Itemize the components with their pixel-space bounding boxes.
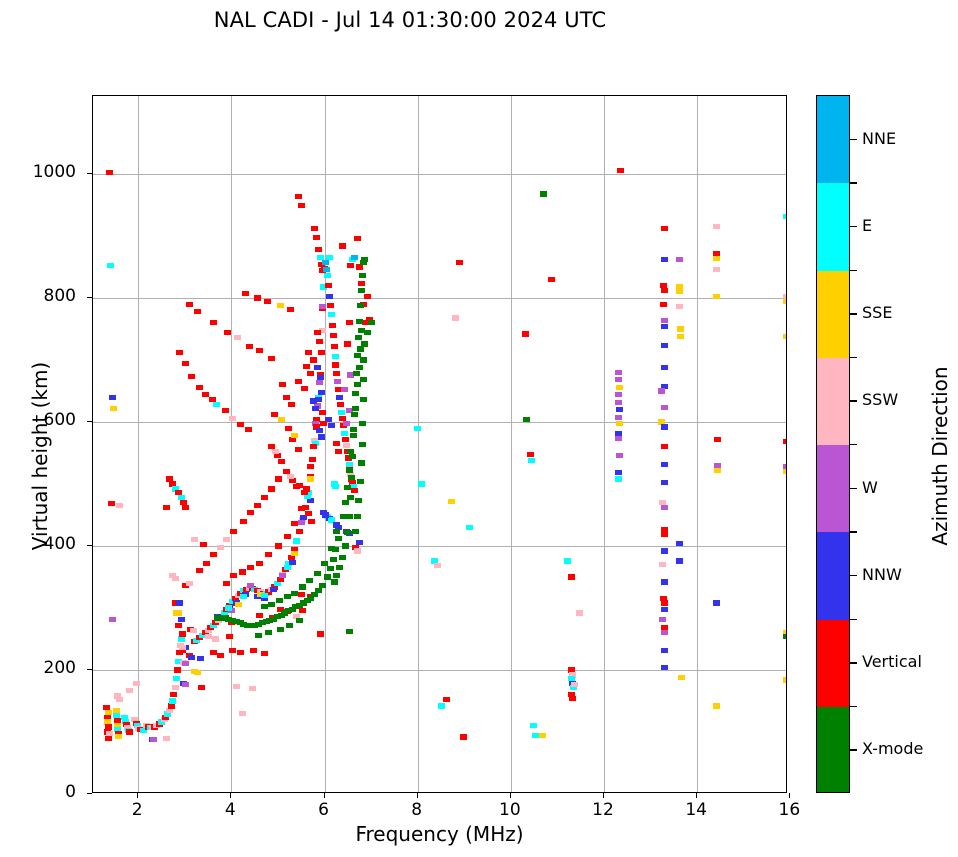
echo-point — [225, 605, 232, 610]
echo-point — [166, 476, 173, 481]
echo-point — [783, 439, 787, 444]
echo-point — [176, 600, 183, 605]
echo-point — [172, 576, 179, 581]
echo-point — [190, 628, 197, 633]
echo-point — [659, 562, 666, 567]
echo-point — [713, 256, 720, 261]
echo-point — [571, 682, 578, 687]
echo-point — [320, 421, 327, 426]
echo-point — [336, 565, 343, 570]
echo-point — [676, 304, 683, 309]
echo-point — [318, 434, 325, 439]
echo-point — [358, 281, 365, 286]
echo-point — [268, 602, 275, 607]
echo-point — [301, 490, 308, 495]
echo-point — [200, 542, 207, 547]
echo-point — [331, 344, 338, 349]
y-axis-tick — [87, 669, 92, 670]
echo-point — [223, 537, 230, 542]
echo-point — [226, 634, 233, 639]
echo-point — [108, 501, 115, 506]
echo-point — [205, 634, 212, 639]
echo-point — [256, 561, 263, 566]
echo-point — [661, 480, 668, 485]
echo-point — [615, 476, 622, 481]
x-axis-tick-label: 10 — [480, 800, 540, 820]
echo-point — [661, 444, 668, 449]
echo-point — [676, 257, 683, 262]
echo-point — [116, 503, 123, 508]
echo-point — [660, 302, 667, 307]
echo-point — [356, 365, 363, 370]
echo-point — [278, 459, 285, 464]
echo-point — [284, 534, 291, 539]
echo-point — [661, 324, 668, 329]
echo-point — [714, 437, 721, 442]
echo-point — [293, 484, 300, 489]
echo-point — [178, 636, 185, 641]
echo-point — [661, 607, 668, 612]
echo-point — [150, 737, 157, 742]
echo-point — [661, 226, 668, 231]
echo-point — [315, 247, 322, 252]
echo-point — [247, 583, 254, 588]
colorbar-tick — [850, 400, 857, 401]
echo-point — [230, 573, 237, 578]
echo-point — [616, 453, 623, 458]
echo-point — [234, 335, 241, 340]
echo-point — [350, 427, 357, 432]
echo-point — [661, 648, 668, 653]
colorbar-ticks — [850, 95, 862, 793]
y-axis-tick — [87, 545, 92, 546]
echo-point — [322, 512, 329, 517]
echo-point — [466, 525, 473, 530]
echo-point — [240, 594, 247, 599]
echo-point — [783, 214, 787, 219]
colorbar-segment[interactable] — [817, 271, 849, 359]
echo-point — [284, 565, 291, 570]
echo-point — [116, 697, 123, 702]
echo-point — [261, 495, 268, 500]
echo-point — [318, 390, 325, 395]
colorbar-label-x-mode: X-mode — [862, 739, 923, 758]
echo-point — [448, 499, 455, 504]
echo-point — [298, 203, 305, 208]
echo-point — [339, 555, 346, 560]
echo-point — [301, 386, 308, 391]
echo-point — [661, 257, 668, 262]
echo-point — [277, 303, 284, 308]
echo-point — [305, 350, 312, 355]
echo-point — [310, 444, 317, 449]
echo-point — [314, 365, 321, 370]
echo-point — [284, 594, 291, 599]
echo-point — [349, 454, 356, 459]
x-axis-tick — [696, 793, 697, 798]
colorbar-label-sse: SSE — [862, 303, 892, 322]
y-axis-tick — [87, 793, 92, 794]
colorbar-boundary-tick — [850, 270, 857, 271]
echo-point — [316, 428, 323, 433]
plot-area[interactable] — [92, 95, 787, 793]
x-axis-tick-label: 6 — [294, 800, 354, 820]
colorbar-label-e: E — [862, 216, 872, 235]
echo-point — [314, 571, 321, 576]
x-axis-tick — [137, 793, 138, 798]
echo-point — [615, 377, 622, 382]
echo-point — [307, 464, 314, 469]
echo-point — [287, 307, 294, 312]
echo-point — [182, 505, 189, 510]
echo-point — [324, 273, 331, 278]
echo-point — [214, 615, 221, 620]
echo-point — [246, 344, 253, 349]
echo-point — [242, 291, 249, 296]
echo-point — [313, 235, 320, 240]
y-axis-tick — [87, 297, 92, 298]
echo-point — [783, 299, 787, 304]
echo-point — [275, 543, 282, 548]
echo-point — [319, 304, 326, 309]
echo-point — [330, 333, 337, 338]
echo-point — [283, 395, 290, 400]
echo-point — [343, 443, 350, 448]
y-axis-tick — [87, 173, 92, 174]
echo-point — [676, 558, 683, 563]
echo-point — [342, 437, 349, 442]
echo-point — [163, 505, 170, 510]
echo-point — [229, 416, 236, 421]
echo-point — [319, 410, 326, 415]
echo-point — [261, 593, 268, 598]
echo-point — [323, 267, 330, 272]
echo-point — [532, 733, 539, 738]
colorbar-boundary-tick — [850, 531, 857, 532]
echo-point — [174, 667, 181, 672]
echo-point — [303, 364, 310, 369]
echo-point — [334, 379, 341, 384]
echo-point — [443, 697, 450, 702]
echo-point — [713, 267, 720, 272]
echo-point — [357, 346, 364, 351]
echo-point — [186, 302, 193, 307]
echo-point — [346, 468, 353, 473]
echo-point — [182, 661, 189, 666]
echo-point — [287, 474, 294, 479]
echo-point — [179, 631, 186, 636]
x-axis-tick-label: 2 — [107, 800, 167, 820]
echo-point — [360, 357, 367, 362]
echo-point — [310, 398, 317, 403]
echo-point — [356, 319, 363, 324]
echo-point — [291, 521, 298, 526]
echo-point — [360, 377, 367, 382]
echo-point — [229, 648, 236, 653]
echo-point — [527, 452, 534, 457]
echo-point — [307, 371, 314, 376]
echo-point — [452, 315, 459, 320]
echo-point — [261, 651, 268, 656]
echo-point — [293, 538, 300, 543]
echo-point — [198, 685, 205, 690]
echo-point — [126, 688, 133, 693]
echo-point — [548, 277, 555, 282]
echo-point — [339, 243, 346, 248]
colorbar-segment[interactable] — [817, 707, 849, 793]
echo-point — [522, 331, 529, 336]
echo-point — [256, 613, 263, 618]
echo-point — [291, 551, 298, 556]
echo-point — [615, 470, 622, 475]
echo-point — [106, 170, 113, 175]
echo-point — [182, 682, 189, 687]
echo-point — [186, 581, 193, 586]
echo-point — [676, 541, 683, 546]
echo-point — [338, 410, 345, 415]
echo-point — [661, 365, 668, 370]
colorbar-label-nne: NNE — [862, 129, 896, 148]
echo-point — [528, 458, 535, 463]
echo-point — [314, 330, 321, 335]
colorbar-label-w: W — [862, 478, 878, 497]
echo-point — [172, 685, 179, 690]
colorbar-segment[interactable] — [817, 183, 849, 271]
y-axis-tick-label: 1000 — [0, 162, 76, 182]
echo-point — [188, 374, 195, 379]
echo-point — [530, 723, 537, 728]
echo-point — [342, 500, 349, 505]
echo-point — [213, 402, 220, 407]
colorbar-segment[interactable] — [817, 620, 849, 708]
echo-point — [210, 320, 217, 325]
echo-point — [352, 406, 359, 411]
x-axis-tick-label: 14 — [666, 800, 726, 820]
echo-point — [115, 734, 122, 739]
echo-point — [564, 558, 571, 563]
echo-point — [326, 294, 333, 299]
echo-point — [414, 426, 421, 431]
echo-point — [309, 457, 316, 462]
echo-point — [364, 330, 371, 335]
echo-point — [335, 449, 342, 454]
echo-point — [344, 530, 351, 535]
echo-point — [333, 371, 340, 376]
colorbar-boundary-tick — [850, 357, 857, 358]
echo-point — [210, 552, 217, 557]
x-axis-tick — [417, 793, 418, 798]
echo-point — [133, 681, 140, 686]
echo-point — [239, 569, 246, 574]
page-title: NAL CADI - Jul 14 01:30:00 2024 UTC — [0, 8, 820, 32]
echo-point — [616, 407, 623, 412]
echo-point — [170, 692, 177, 697]
echo-point — [358, 288, 365, 293]
echo-point — [616, 385, 623, 390]
echo-point — [295, 379, 302, 384]
echo-point — [355, 498, 362, 503]
echo-point — [356, 540, 363, 545]
echo-point — [356, 264, 363, 269]
echo-point — [277, 627, 284, 632]
x-axis-tick — [324, 793, 325, 798]
echo-point — [354, 382, 361, 387]
echo-point — [351, 255, 358, 260]
echo-point — [783, 634, 787, 639]
echo-point — [194, 309, 201, 314]
echo-point — [357, 303, 364, 308]
echo-point — [539, 733, 546, 738]
echo-point — [279, 573, 286, 578]
echo-point — [328, 423, 335, 428]
echo-point — [677, 334, 684, 339]
ionogram-page: NAL CADI - Jul 14 01:30:00 2024 UTC 2468… — [0, 0, 958, 857]
colorbar[interactable] — [816, 95, 850, 793]
echo-point — [237, 422, 244, 427]
echo-point — [203, 561, 210, 566]
echo-point — [179, 645, 186, 650]
echo-point — [239, 711, 246, 716]
echo-point — [335, 536, 342, 541]
echo-point — [308, 519, 315, 524]
echo-point — [296, 529, 303, 534]
echo-point — [316, 380, 323, 385]
echo-point — [713, 224, 720, 229]
echo-point — [332, 354, 339, 359]
echo-point — [326, 255, 333, 260]
echo-point — [615, 415, 622, 420]
echo-point — [235, 602, 242, 607]
colorbar-segment[interactable] — [817, 532, 849, 620]
colorbar-tick — [850, 313, 857, 314]
echo-point — [340, 514, 347, 519]
echo-point — [783, 677, 787, 682]
echo-point — [296, 618, 303, 623]
echo-point — [168, 703, 175, 708]
echo-point — [305, 511, 312, 516]
echo-point — [359, 442, 366, 447]
colorbar-label-nnw: NNW — [862, 565, 902, 584]
echo-point — [361, 257, 368, 262]
colorbar-segment[interactable] — [817, 358, 849, 446]
echo-point — [212, 636, 219, 641]
echo-point — [434, 563, 441, 568]
colorbar-boundary-tick — [850, 444, 857, 445]
echo-point — [254, 295, 261, 300]
echo-point — [713, 294, 720, 299]
colorbar-segment[interactable] — [817, 96, 849, 184]
echo-point — [783, 334, 787, 339]
echo-point — [175, 610, 182, 615]
echo-point — [268, 486, 275, 491]
echo-point — [325, 283, 332, 288]
x-axis-tick — [789, 793, 790, 798]
echo-point — [295, 447, 302, 452]
colorbar-tick — [850, 139, 857, 140]
echo-point — [661, 424, 668, 429]
x-axis-tick — [230, 793, 231, 798]
x-axis-title: Frequency (MHz) — [92, 822, 787, 846]
echo-point — [346, 320, 353, 325]
echo-point — [217, 545, 224, 550]
echo-point — [343, 421, 350, 426]
echo-point — [344, 341, 351, 346]
echo-point — [322, 260, 329, 265]
colorbar-label-ssw: SSW — [862, 390, 898, 409]
echo-point — [333, 529, 340, 534]
echo-point — [233, 684, 240, 689]
echo-point — [341, 431, 348, 436]
colorbar-tick — [850, 226, 857, 227]
echo-point — [460, 734, 467, 739]
echo-point — [311, 226, 318, 231]
echo-point — [661, 630, 668, 635]
echo-point — [249, 686, 256, 691]
echo-point — [276, 598, 283, 603]
echo-point — [661, 318, 668, 323]
echo-point — [307, 476, 314, 481]
colorbar-boundary-tick — [850, 182, 857, 183]
echo-point — [285, 426, 292, 431]
echo-point — [194, 670, 201, 675]
echo-point — [230, 529, 237, 534]
echo-point — [342, 543, 349, 548]
echo-point — [275, 476, 282, 481]
y-axis-tick-label: 800 — [0, 286, 76, 306]
echo-point — [661, 579, 668, 584]
echo-point — [337, 402, 344, 407]
echo-point — [658, 388, 665, 393]
echo-point — [659, 617, 666, 622]
echo-point — [540, 191, 547, 196]
echo-point — [126, 729, 133, 734]
y-axis-tick-label: 0 — [0, 782, 76, 802]
echo-point — [250, 648, 257, 653]
echo-point — [321, 561, 328, 566]
echo-point — [310, 357, 317, 362]
echo-point — [661, 505, 668, 510]
echo-point — [661, 548, 668, 553]
echo-point — [107, 263, 114, 268]
echo-point — [291, 591, 298, 596]
echo-point — [418, 481, 425, 486]
echo-point — [332, 362, 339, 367]
colorbar-segment[interactable] — [817, 445, 849, 533]
echo-point — [268, 356, 275, 361]
echo-point — [576, 610, 583, 615]
echo-point — [306, 578, 313, 583]
echo-point — [318, 350, 325, 355]
y-axis-tick-label: 200 — [0, 658, 76, 678]
echo-point — [364, 294, 371, 299]
echo-point — [265, 552, 272, 557]
x-axis-tick — [510, 793, 511, 798]
echo-point — [247, 510, 254, 515]
echo-point — [355, 335, 362, 340]
echo-point — [333, 573, 340, 578]
echo-point — [352, 391, 359, 396]
echo-point — [265, 630, 272, 635]
echo-point — [678, 675, 685, 680]
echo-point — [713, 703, 720, 708]
echo-point — [332, 484, 339, 489]
echo-point — [295, 194, 302, 199]
echo-point — [615, 370, 622, 375]
echo-point — [191, 537, 198, 542]
echo-point — [264, 299, 271, 304]
echo-point — [217, 653, 224, 658]
echo-point — [661, 665, 668, 670]
